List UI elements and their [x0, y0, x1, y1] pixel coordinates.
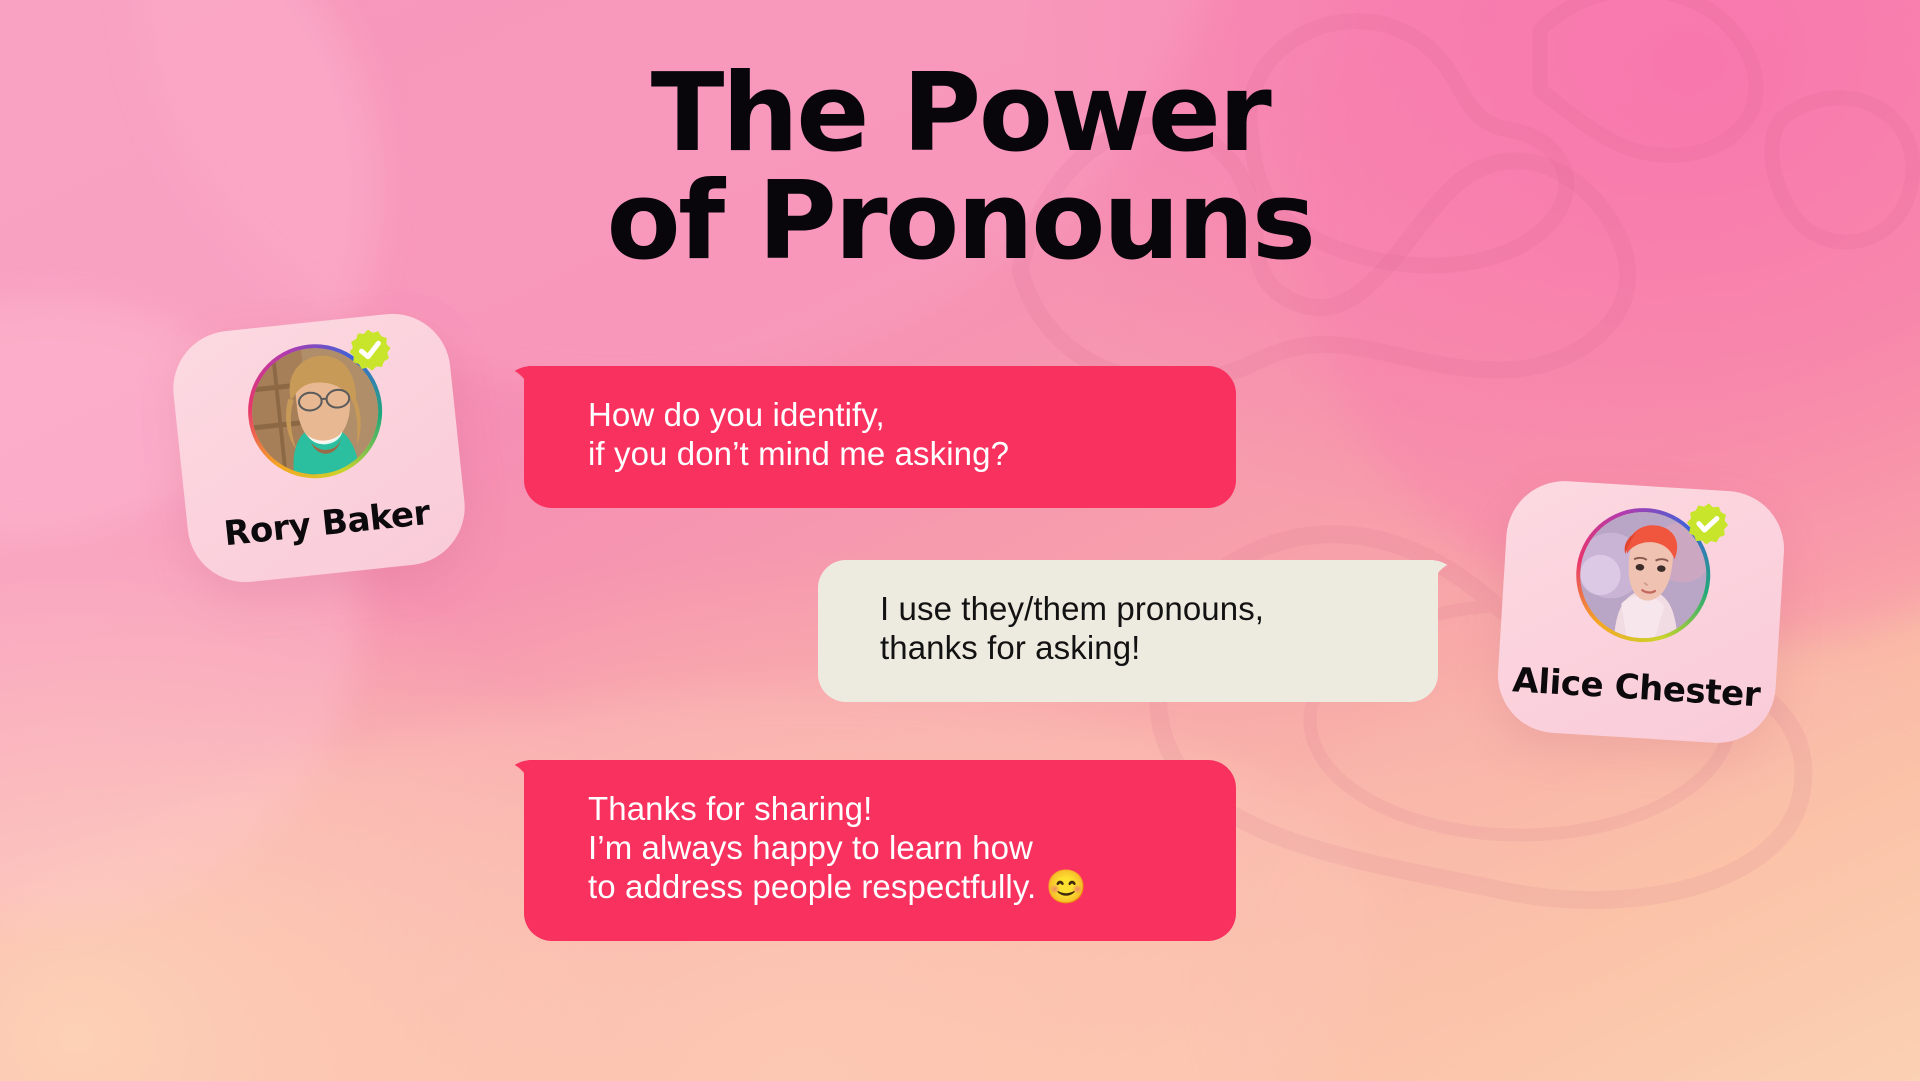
chat-bubble-sent-2: Thanks for sharing! I’m always happy to …: [524, 760, 1236, 941]
chat-bubble-sent-1: How do you identify, if you don’t mind m…: [524, 366, 1236, 508]
profile-card-rory[interactable]: Rory Baker: [168, 308, 471, 588]
profile-card-alice[interactable]: Alice Chester: [1495, 478, 1788, 747]
verified-check-icon: [345, 325, 396, 376]
profile-name-rory: Rory Baker: [222, 493, 432, 554]
avatar: [1572, 504, 1714, 646]
avatar: [241, 338, 388, 485]
profile-name-alice: Alice Chester: [1511, 660, 1761, 715]
chat-bubble-received-1: I use they/them pronouns, thanks for ask…: [818, 560, 1438, 702]
verified-check-icon: [1683, 500, 1732, 549]
